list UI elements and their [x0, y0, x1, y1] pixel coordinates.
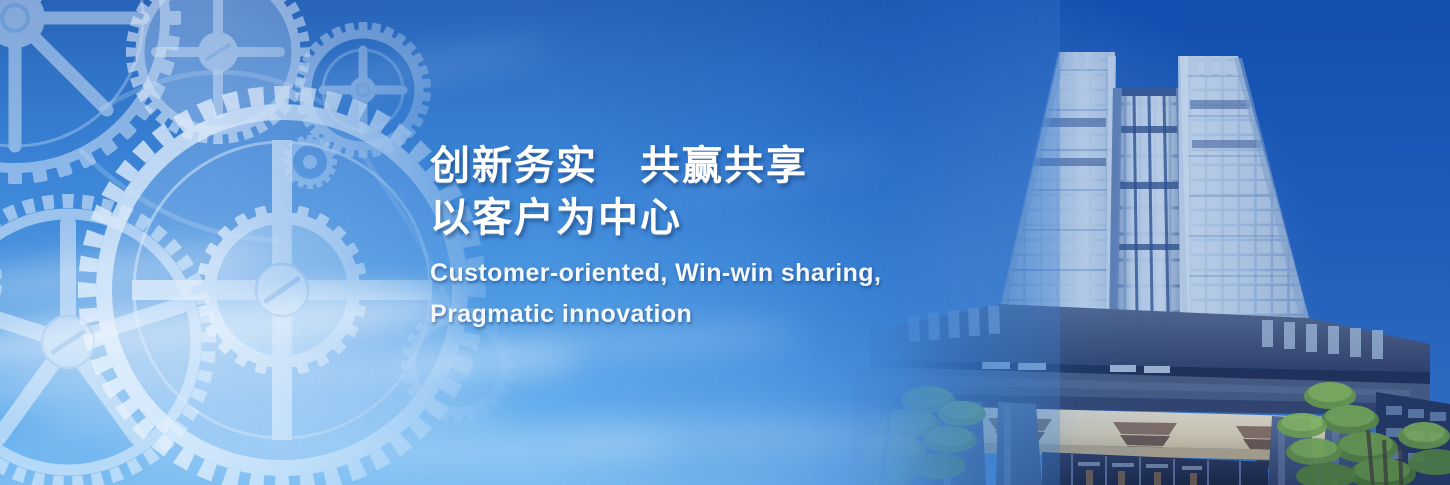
- hero-banner: 创新务实 共赢共享 以客户为中心 Customer-oriented, Win-…: [0, 0, 1450, 485]
- gear-large-main: [78, 86, 486, 485]
- headline-zh-line1: 创新务实 共赢共享: [430, 140, 950, 192]
- subtitle-en-line2: Pragmatic innovation: [430, 294, 950, 335]
- banner-copy: 创新务实 共赢共享 以客户为中心 Customer-oriented, Win-…: [430, 140, 950, 335]
- subtitle-en-line1: Customer-oriented, Win-win sharing,: [430, 253, 950, 294]
- headline-zh-line2: 以客户为中心: [430, 192, 950, 244]
